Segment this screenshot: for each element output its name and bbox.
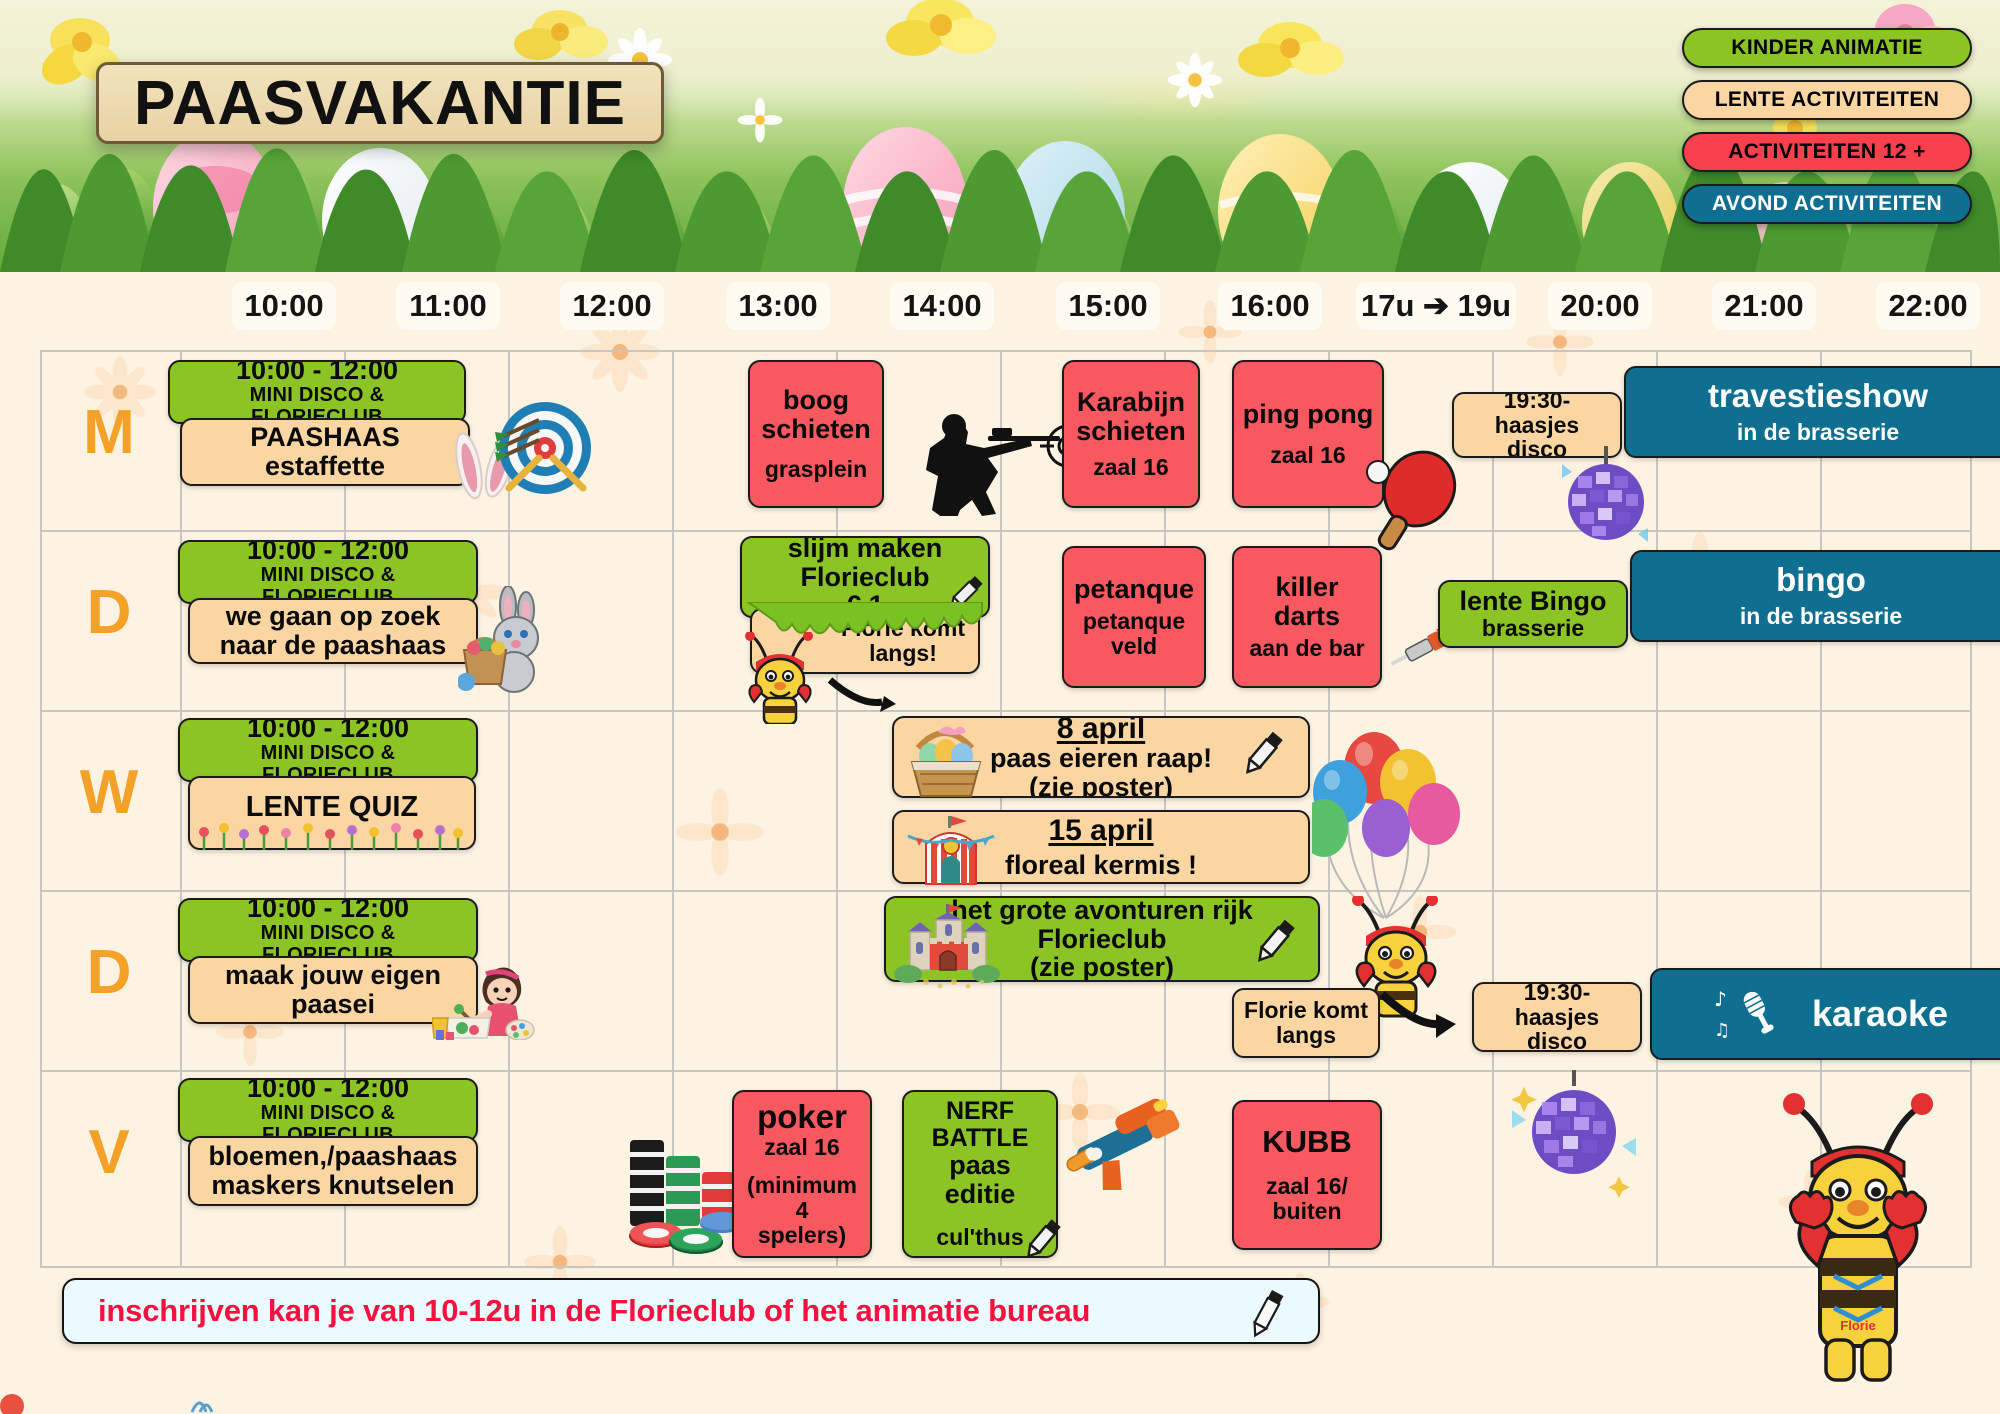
tue-petanque[interactable]: petanque petanque veld bbox=[1062, 546, 1206, 688]
activity-location: zaal 16 bbox=[764, 1135, 839, 1160]
header-banner: PAASVAKANTIE KINDER ANIMATIE LENTE ACTIV… bbox=[0, 0, 2000, 272]
activity-location: grasplein bbox=[765, 457, 867, 482]
tue-zoek-paashaas[interactable]: we gaan op zoek naar de paashaas bbox=[188, 598, 478, 664]
time-label-1200: 12:00 bbox=[560, 282, 664, 330]
registration-notice: inschrijven kan je van 10-12u in de Flor… bbox=[62, 1278, 1320, 1344]
activity-title: haasjes disco bbox=[1482, 1005, 1632, 1052]
activity-title-line1: boog bbox=[783, 386, 849, 415]
day-label-monday: M bbox=[54, 402, 164, 464]
pencil-icon bbox=[1238, 728, 1286, 780]
legend-badge-lente-activiteiten[interactable]: LENTE ACTIVITEITEN bbox=[1682, 80, 1972, 120]
activity-title: ping pong bbox=[1243, 400, 1373, 429]
evening-title: bingo bbox=[1776, 563, 1866, 598]
timeline-axis: 10:00 11:00 12:00 13:00 14:00 15:00 16:0… bbox=[0, 272, 2000, 344]
footer-logo-fragment bbox=[0, 1378, 240, 1414]
archery-target-icon bbox=[495, 390, 600, 505]
day-label-thursday: D bbox=[54, 942, 164, 1004]
time-label-1500: 15:00 bbox=[1056, 282, 1160, 330]
time-label-1300: 13:00 bbox=[726, 282, 830, 330]
florie-bee-mascot-icon bbox=[740, 632, 828, 724]
activity-location: Florieclub bbox=[800, 563, 929, 592]
disco-ball-icon bbox=[1558, 446, 1654, 546]
morning-time: 10:00 - 12:00 bbox=[247, 718, 409, 742]
day-label-tuesday: D bbox=[54, 582, 164, 644]
time-label-1100: 11:00 bbox=[396, 282, 500, 330]
bunny-icon bbox=[458, 586, 550, 696]
mon-boog-schieten[interactable]: boog schieten grasplein bbox=[748, 360, 884, 508]
activity-subtitle: estaffette bbox=[265, 452, 385, 481]
easter-basket-icon bbox=[900, 718, 990, 798]
castle-icon bbox=[890, 898, 1002, 990]
activity-location: zaal 16/ buiten bbox=[1242, 1174, 1372, 1224]
morning-line2: MINI DISCO & bbox=[261, 564, 396, 586]
painting-girl-icon bbox=[432, 956, 536, 1040]
thu-mini-disco-block[interactable]: 10:00 - 12:00 MINI DISCO & FLORIECLUB bbox=[178, 898, 478, 962]
activity-location: aan de bar bbox=[1249, 636, 1364, 661]
activity-time: 19:30- bbox=[1504, 392, 1570, 413]
activity-title-line2: paasei bbox=[291, 990, 375, 1019]
disco-ball-icon bbox=[1510, 1070, 1640, 1200]
tue-killer-darts[interactable]: killer darts aan de bar bbox=[1232, 546, 1382, 688]
thu-florie-komt-langs[interactable]: Florie komt langs bbox=[1232, 988, 1380, 1058]
activity-note-l2: spelers) bbox=[758, 1223, 846, 1248]
activity-title-line1: bloemen,/paashaas bbox=[208, 1142, 457, 1171]
event-date: 8 april bbox=[1057, 716, 1145, 744]
event-date: 15 april bbox=[1048, 815, 1153, 847]
schedule-grid: M D W D V 10:00 - 12:00 MINI DISCO & FLO… bbox=[40, 350, 1972, 1268]
activity-title-line1: maak jouw eigen bbox=[225, 961, 441, 990]
mon-mini-disco-block[interactable]: 10:00 - 12:00 MINI DISCO & FLORIECLUB bbox=[168, 360, 466, 424]
activity-title-line1: we gaan op zoek bbox=[226, 602, 441, 631]
florie-bee-mascot-icon: Florie bbox=[1760, 1090, 1980, 1390]
activity-note-l1: (minimum 4 bbox=[742, 1173, 862, 1223]
day-label-wednesday: W bbox=[54, 762, 164, 824]
activity-location-l2: veld bbox=[1111, 634, 1157, 659]
activity-title: lente Bingo bbox=[1460, 587, 1607, 616]
fri-kubb[interactable]: KUBB zaal 16/ buiten bbox=[1232, 1100, 1382, 1250]
activity-title-line2: maskers knutselen bbox=[211, 1171, 454, 1200]
fri-mini-disco-block[interactable]: 10:00 - 12:00 MINI DISCO & FLORIECLUB bbox=[178, 1078, 478, 1142]
mon-paashaas-estaffette[interactable]: PAASHAAS estaffette bbox=[180, 418, 470, 486]
time-label-2100: 21:00 bbox=[1712, 282, 1816, 330]
morning-line2: MINI DISCO & bbox=[261, 1102, 396, 1124]
thu-haasjes-disco[interactable]: 19:30- haasjes disco bbox=[1472, 982, 1642, 1052]
activity-location-l1: petanque bbox=[1083, 609, 1185, 634]
poster-root: PAASVAKANTIE KINDER ANIMATIE LENTE ACTIV… bbox=[0, 0, 2000, 1414]
poker-chips-icon bbox=[618, 1100, 748, 1260]
activity-note: (zie poster) bbox=[1030, 953, 1174, 982]
activity-title-line2: naar de paashaas bbox=[220, 631, 447, 660]
evening-title: karaoke bbox=[1812, 995, 1948, 1033]
morning-time: 10:00 - 12:00 bbox=[247, 540, 409, 564]
activity-title: petanque bbox=[1074, 575, 1194, 604]
activity-title: killer darts bbox=[1242, 573, 1372, 630]
legend-label: LENTE ACTIVITEITEN bbox=[1715, 88, 1940, 112]
legend-badge-kinder-animatie[interactable]: KINDER ANIMATIE bbox=[1682, 28, 1972, 68]
circus-tent-icon bbox=[902, 814, 1002, 886]
tue-mini-disco-block[interactable]: 10:00 - 12:00 MINI DISCO & FLORIECLUB bbox=[178, 540, 478, 604]
flower-strip-icon bbox=[190, 820, 474, 850]
activity-title: KUBB bbox=[1262, 1126, 1352, 1159]
activity-title-line2: langs bbox=[1276, 1023, 1336, 1048]
time-label-2000: 20:00 bbox=[1548, 282, 1652, 330]
page-title: PAASVAKANTIE bbox=[96, 62, 664, 144]
time-label-2200: 22:00 bbox=[1876, 282, 1980, 330]
activity-title-line2: schieten bbox=[1076, 417, 1186, 446]
nerf-gun-icon bbox=[1060, 1090, 1206, 1190]
activity-title: PAASHAAS bbox=[250, 423, 400, 452]
event-title: paas eieren raap! bbox=[990, 744, 1212, 773]
mon-travestieshow[interactable]: travestieshow in de brasserie bbox=[1624, 366, 2000, 458]
evening-location: in de brasserie bbox=[1740, 604, 1902, 629]
microphone-icon: ♪ ♫ bbox=[1714, 984, 1786, 1044]
legend-label: AVOND ACTIVITEITEN bbox=[1712, 192, 1942, 216]
activity-title: poker bbox=[757, 1100, 847, 1135]
morning-line2: MINI DISCO & bbox=[261, 922, 396, 944]
thu-karaoke[interactable]: ♪ ♫ karaoke bbox=[1650, 968, 2000, 1060]
wed-mini-disco-block[interactable]: 10:00 - 12:00 MINI DISCO & FLORIECLUB bbox=[178, 718, 478, 782]
activity-title-line2: Florieclub bbox=[1037, 925, 1166, 954]
mon-karabijn-schieten[interactable]: Karabijn schieten zaal 16 bbox=[1062, 360, 1200, 508]
activity-title-line2: langs! bbox=[838, 641, 968, 666]
activity-title-line1: Karabijn bbox=[1077, 388, 1185, 417]
legend: KINDER ANIMATIE LENTE ACTIVITEITEN ACTIV… bbox=[1682, 28, 1972, 236]
curved-arrow-icon bbox=[1380, 990, 1456, 1050]
morning-line2: MINI DISCO & bbox=[261, 742, 396, 764]
tue-bingo-evening[interactable]: bingo in de brasserie bbox=[1630, 550, 2000, 642]
activity-title-line2: paas editie bbox=[912, 1151, 1048, 1208]
time-label-17-19: 17u ➔ 19u bbox=[1356, 282, 1516, 330]
tue-lente-bingo[interactable]: lente Bingo brasserie bbox=[1438, 580, 1628, 648]
evening-location: in de brasserie bbox=[1737, 420, 1899, 445]
activity-location: brasserie bbox=[1482, 616, 1584, 641]
activity-title-line1: Florie komt bbox=[1244, 998, 1368, 1023]
pencil-icon bbox=[1020, 1216, 1064, 1264]
legend-badge-avond-activiteiten[interactable]: AVOND ACTIVITEITEN bbox=[1682, 184, 1972, 224]
day-label-friday: V bbox=[54, 1122, 164, 1184]
event-title: floreal kermis ! bbox=[1005, 851, 1197, 880]
morning-line2: MINI DISCO & bbox=[250, 384, 385, 406]
ping-pong-paddle-icon bbox=[1358, 450, 1473, 560]
time-label-1600: 16:00 bbox=[1218, 282, 1322, 330]
legend-label: ACTIVITEITEN 12 + bbox=[1728, 140, 1926, 164]
pencil-icon bbox=[1242, 1288, 1290, 1340]
morning-time: 10:00 - 12:00 bbox=[236, 360, 398, 384]
activity-location: zaal 16 bbox=[1093, 455, 1168, 480]
legend-badge-activiteiten-12plus[interactable]: ACTIVITEITEN 12 + bbox=[1682, 132, 1972, 172]
activity-time: 19:30- bbox=[1524, 982, 1590, 1005]
activity-title-line2: schieten bbox=[761, 415, 871, 444]
activity-title-line1: NERF BATTLE bbox=[912, 1098, 1048, 1151]
fri-poker[interactable]: poker zaal 16 (minimum 4 spelers) bbox=[732, 1090, 872, 1258]
event-note: (zie poster) bbox=[1029, 773, 1173, 798]
pencil-icon bbox=[1250, 916, 1298, 968]
activity-location: zaal 16 bbox=[1270, 443, 1345, 468]
activity-location: cul'thus bbox=[936, 1225, 1023, 1250]
registration-notice-text: inschrijven kan je van 10-12u in de Flor… bbox=[98, 1293, 1090, 1329]
activity-title: slijm maken bbox=[788, 536, 943, 563]
evening-title: travestieshow bbox=[1708, 379, 1928, 414]
time-label-1000: 10:00 bbox=[232, 282, 336, 330]
morning-time: 10:00 - 12:00 bbox=[247, 898, 409, 922]
activity-title: LENTE QUIZ bbox=[246, 792, 418, 823]
curved-arrow-icon bbox=[826, 672, 896, 716]
svg-text:Florie: Florie bbox=[1840, 1318, 1875, 1333]
time-label-1400: 14:00 bbox=[890, 282, 994, 330]
page-title-text: PAASVAKANTIE bbox=[134, 68, 626, 139]
morning-time: 10:00 - 12:00 bbox=[247, 1078, 409, 1102]
legend-label: KINDER ANIMATIE bbox=[1731, 36, 1923, 60]
fri-maskers-knutselen[interactable]: bloemen,/paashaas maskers knutselen bbox=[188, 1136, 478, 1206]
svg-text:♪: ♪ bbox=[1714, 987, 1727, 1011]
svg-text:♫: ♫ bbox=[1714, 1020, 1730, 1041]
